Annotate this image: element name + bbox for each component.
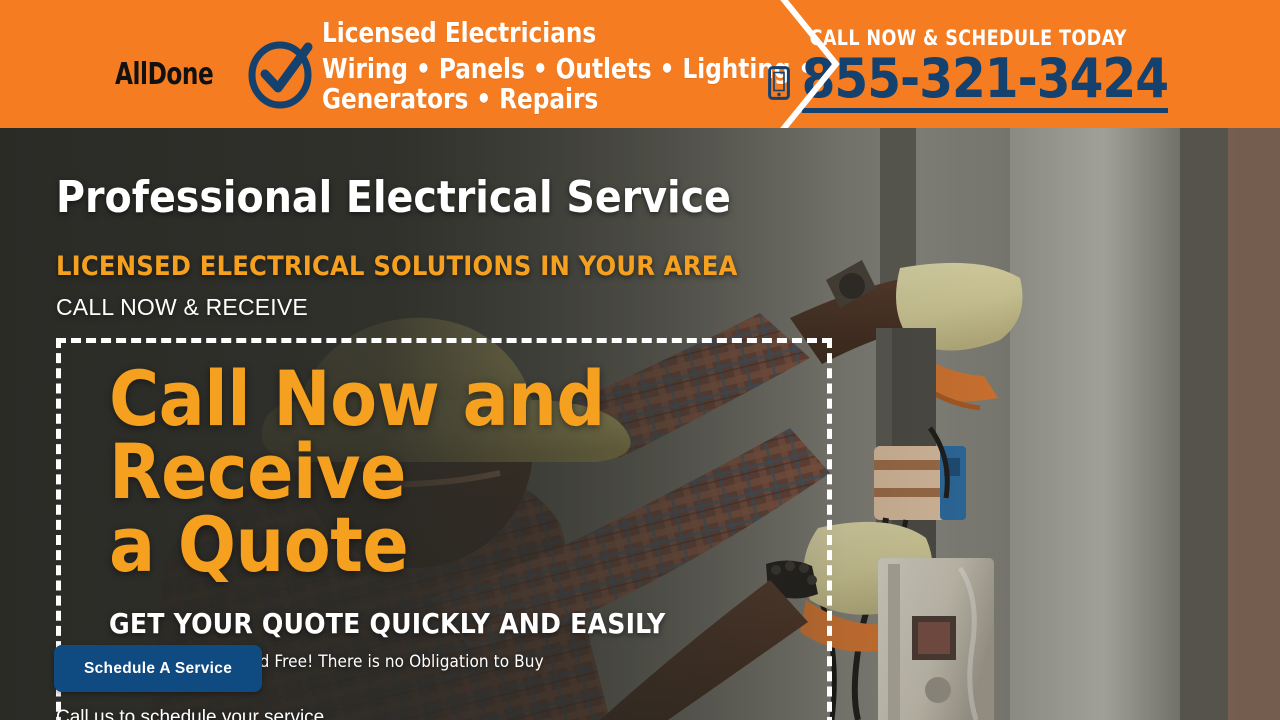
schedule-a-service-button[interactable]: Schedule A Service bbox=[54, 645, 262, 692]
page-title: Professional Electrical Service bbox=[56, 176, 731, 220]
cta-note: Call us to schedule your service bbox=[56, 708, 324, 720]
site-header: AllDone Licensed Electricians Wiring • P… bbox=[0, 0, 1280, 128]
chevron-right-icon bbox=[760, 0, 850, 128]
logo-text: AllDone bbox=[115, 57, 213, 92]
services-line-3: Generators • Repairs bbox=[322, 84, 708, 114]
coupon-headline-line-2: a Quote bbox=[109, 509, 817, 582]
services-line-1: Licensed Electricians bbox=[322, 18, 708, 48]
services-line-2: Wiring • Panels • Outlets • Lighting • bbox=[322, 54, 708, 84]
hero-eyebrow: CALL NOW & RECEIVE bbox=[56, 296, 308, 319]
hero-section: Professional Electrical Service LICENSED… bbox=[0, 128, 1280, 720]
landing-page: AllDone Licensed Electricians Wiring • P… bbox=[0, 0, 1280, 720]
hero-subtitle: LICENSED ELECTRICAL SOLUTIONS IN YOUR AR… bbox=[56, 253, 738, 280]
coupon-headline-line-1: Call Now and Receive bbox=[109, 363, 817, 509]
phone-number-link[interactable]: 855-321-3424 bbox=[802, 52, 1168, 113]
circle-check-icon bbox=[245, 38, 317, 110]
coupon-subheadline: GET YOUR QUOTE QUICKLY AND EASILY bbox=[109, 610, 817, 638]
brand-logo[interactable]: AllDone bbox=[115, 38, 317, 110]
services-list: Licensed Electricians Wiring • Panels • … bbox=[322, 18, 742, 114]
hero-content: Professional Electrical Service LICENSED… bbox=[0, 128, 1280, 720]
